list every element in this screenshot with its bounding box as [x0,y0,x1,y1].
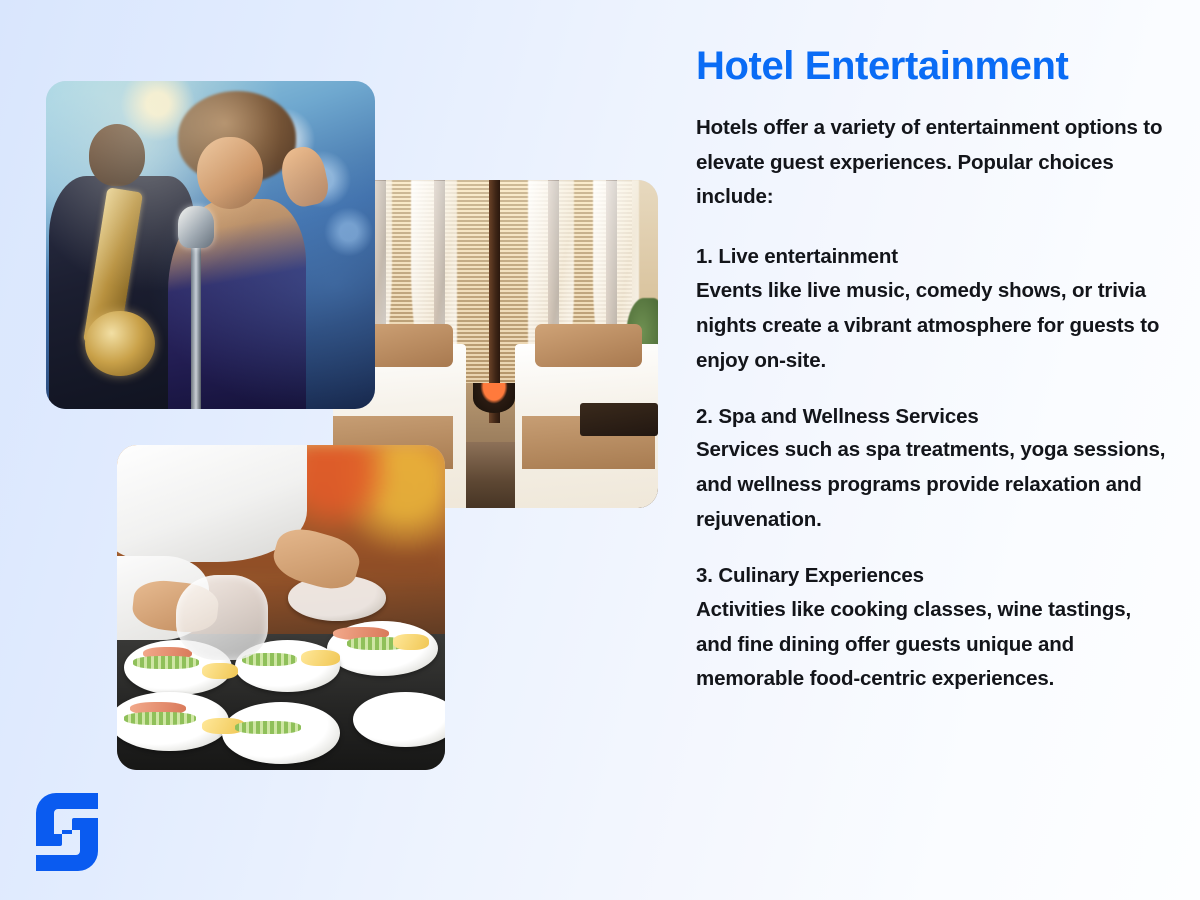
section-culinary-experiences: 3. Culinary Experiences Activities like … [696,560,1166,697]
intro-paragraph: Hotels offer a variety of entertainment … [696,111,1166,216]
section-heading: 3. Culinary Experiences [696,560,1166,592]
text-column: Hotel Entertainment Hotels offer a varie… [696,0,1166,900]
section-spa-and-wellness: 2. Spa and Wellness Services Services su… [696,401,1166,538]
page-title: Hotel Entertainment [696,44,1166,89]
section-body: Activities like cooking classes, wine ta… [696,593,1166,698]
section-body: Events like live music, comedy shows, or… [696,274,1166,379]
brand-logo[interactable] [32,789,102,875]
section-body: Services such as spa treatments, yoga se… [696,433,1166,538]
infographic-canvas: Hotel Entertainment Hotels offer a varie… [0,0,1200,900]
culinary-photo [117,445,445,770]
section-live-entertainment: 1. Live entertainment Events like live m… [696,241,1166,378]
live-music-photo [46,81,375,409]
section-heading: 1. Live entertainment [696,241,1166,273]
section-heading: 2. Spa and Wellness Services [696,401,1166,433]
